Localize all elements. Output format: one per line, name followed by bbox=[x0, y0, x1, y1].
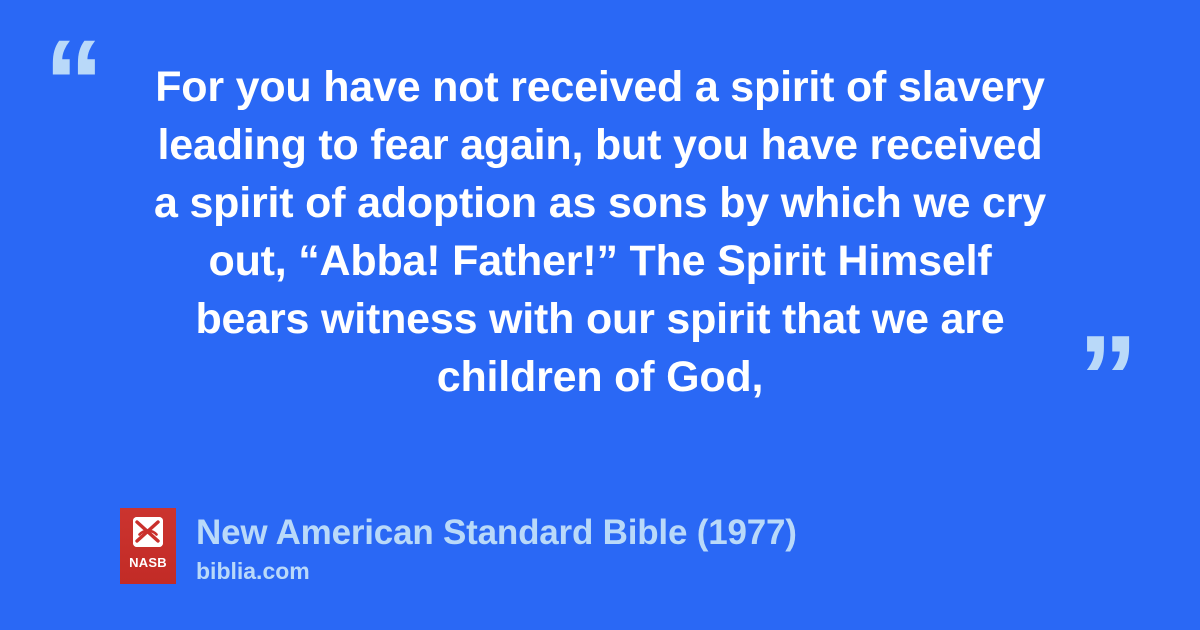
quote-text-block: For you have not received a spirit of sl… bbox=[112, 58, 1088, 406]
nasb-cross-mark-icon bbox=[133, 517, 163, 547]
source-title: New American Standard Bible (1977) bbox=[196, 512, 797, 554]
nasb-logo-label: NASB bbox=[129, 556, 167, 569]
quote-line: leading to fear again, but you have rece… bbox=[112, 116, 1088, 174]
quote-line: For you have not received a spirit of sl… bbox=[112, 58, 1088, 116]
source-site-link[interactable]: biblia.com bbox=[196, 556, 797, 586]
nasb-logo-badge: NASB bbox=[120, 508, 176, 584]
quote-line: children of God, bbox=[112, 348, 1088, 406]
closing-quote-icon: ” bbox=[1078, 318, 1138, 438]
quote-line: out, “Abba! Father!” The Spirit Himself bbox=[112, 232, 1088, 290]
quote-line: bears witness with our spirit that we ar… bbox=[112, 290, 1088, 348]
attribution-text: New American Standard Bible (1977) bibli… bbox=[196, 508, 797, 586]
attribution: NASB New American Standard Bible (1977) … bbox=[120, 508, 797, 586]
quote-line: a spirit of adoption as sons by which we… bbox=[112, 174, 1088, 232]
quote-poster: “ For you have not received a spirit of … bbox=[0, 0, 1200, 630]
opening-quote-icon: “ bbox=[44, 22, 104, 142]
